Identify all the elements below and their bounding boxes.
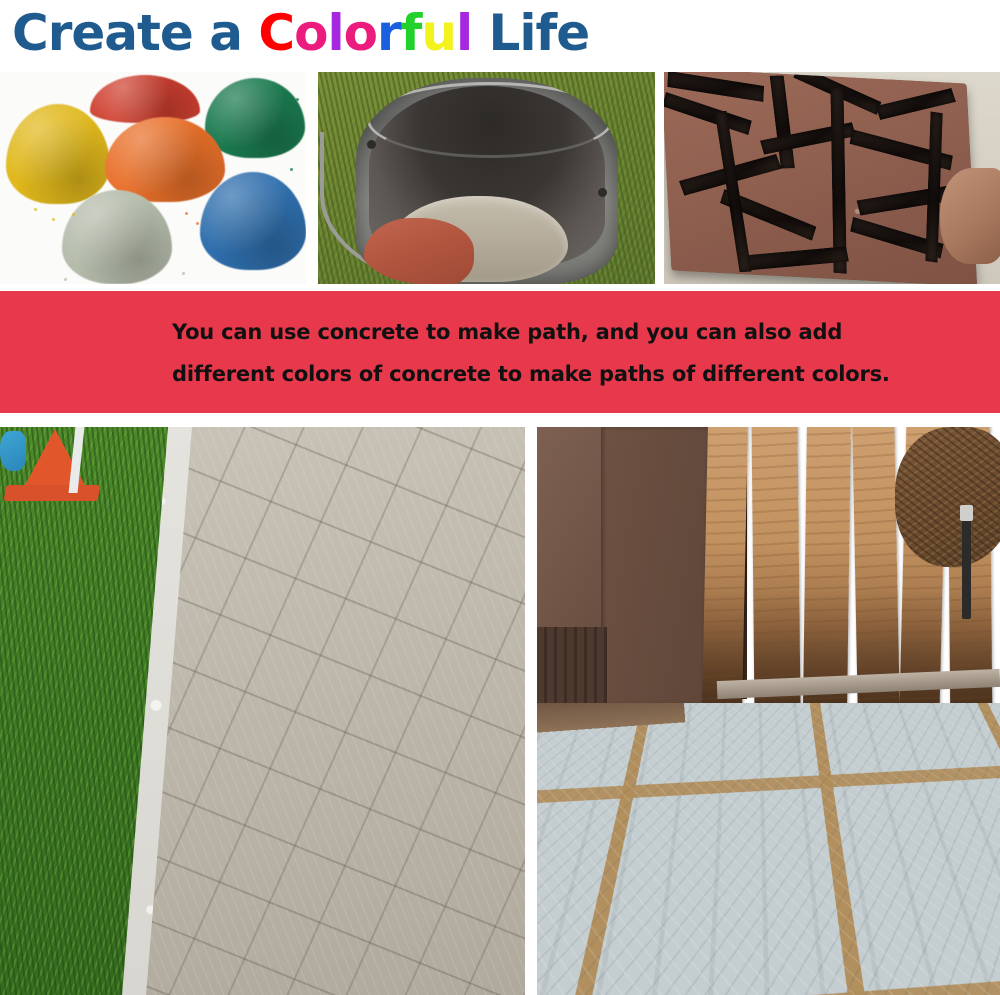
- title-part-4: o: [344, 4, 377, 62]
- title-part-6: f: [401, 4, 422, 62]
- fence-dark-post: [962, 511, 971, 619]
- title-part-2: o: [294, 4, 327, 62]
- photo-garden-path-result: [0, 427, 525, 995]
- bucket-handle-lug-left: [367, 140, 376, 149]
- fence-board: [803, 427, 851, 709]
- bucket-rim: [367, 82, 613, 158]
- fence-board: [702, 427, 748, 709]
- title-part-7: u: [421, 4, 456, 62]
- photo-paving-mold: [664, 72, 1000, 284]
- pigment-speck: [296, 98, 299, 101]
- fence-post-cap: [960, 505, 973, 521]
- pigment-speck: [52, 218, 55, 221]
- bottom-photo-row: [0, 427, 1000, 995]
- message-banner: You can use concrete to make path, and y…: [0, 291, 1000, 413]
- patio-brown-wall: [537, 427, 709, 717]
- photo-mixing-bucket: [318, 72, 655, 284]
- banner-line-2: different colors of concrete to make pat…: [172, 362, 890, 386]
- title-part-1: C: [258, 4, 294, 62]
- fence-debris-bundle: [895, 427, 1000, 567]
- pigment-speck: [34, 208, 37, 211]
- patio-wall-panel: [601, 427, 709, 705]
- patio-cobblestone-surface: [537, 703, 1000, 995]
- mold-holding-hand: [940, 168, 1000, 264]
- pigment-speck: [182, 272, 185, 275]
- banner-line-1: You can use concrete to make path, and y…: [172, 320, 842, 344]
- fence-board: [752, 427, 801, 709]
- title-part-3: l: [327, 4, 343, 62]
- bucket-body: [356, 78, 618, 284]
- product-infographic: Create a Colorful Life: [0, 0, 1000, 995]
- patio-cobble-pattern: [537, 703, 1000, 995]
- pigment-speck: [64, 278, 67, 281]
- bucket-handle-lug-right: [598, 188, 607, 197]
- fence-board: [852, 427, 899, 709]
- title-part-8: l: [456, 4, 472, 62]
- patio-wall-skirt: [537, 627, 607, 713]
- pigment-speck: [196, 222, 199, 225]
- bucket-red-pigment: [364, 218, 474, 284]
- title-part-9: Life: [472, 4, 589, 62]
- top-photo-row: [0, 72, 1000, 284]
- pigment-speck: [72, 213, 75, 216]
- orange-cone-base: [4, 485, 101, 501]
- title-bar: Create a Colorful Life: [0, 0, 1000, 70]
- page-title: Create a Colorful Life: [12, 2, 589, 64]
- photo-color-pigment-powders: [0, 72, 306, 284]
- title-part-0: Create a: [12, 4, 258, 62]
- pigment-speck: [290, 168, 293, 171]
- title-part-5: r: [377, 4, 401, 62]
- mold-frame: [664, 72, 977, 284]
- pigment-speck: [185, 212, 188, 215]
- photo-patio-result: [537, 427, 1000, 995]
- patio-stone-texture: [537, 703, 1000, 995]
